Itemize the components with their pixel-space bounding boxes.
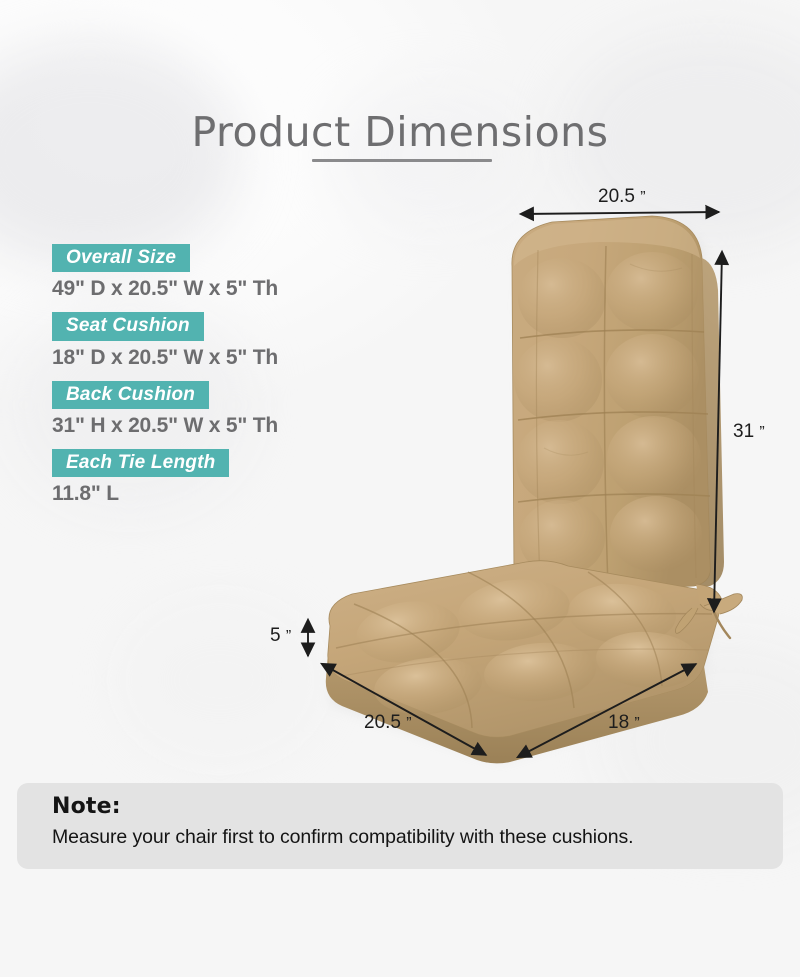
dim-value: 20.5 (598, 186, 635, 207)
title-underline (312, 159, 492, 162)
spec-label-banner: Each Tie Length (52, 449, 229, 477)
dim-unit: ” (759, 424, 764, 441)
dim-value: 5 (270, 625, 281, 646)
dim-label-seat-depth: 18 ” (608, 712, 640, 734)
dim-label-top-width: 20.5 ” (598, 186, 646, 208)
dim-label-thickness: 5 ” (270, 625, 291, 647)
infographic-page: Product Dimensions Overall Size 49" D x … (0, 0, 800, 977)
background-blob (120, 600, 320, 760)
note-title: Note: (52, 793, 783, 821)
note-text: Measure your chair first to confirm comp… (52, 826, 783, 849)
product-illustration (300, 180, 760, 780)
dim-unit: ” (640, 189, 645, 206)
page-title: Product Dimensions (0, 108, 800, 156)
spec-label-banner: Back Cushion (52, 381, 209, 409)
back-cushion-graphic (512, 216, 724, 594)
spec-label-banner: Seat Cushion (52, 312, 204, 340)
dim-unit: ” (406, 715, 411, 732)
note-box: Note: Measure your chair first to confir… (17, 783, 783, 869)
dim-unit: ” (634, 715, 639, 732)
dim-label-seat-width: 20.5 ” (364, 712, 412, 734)
dim-value: 18 (608, 712, 629, 733)
dim-unit: ” (286, 628, 291, 645)
dim-value: 20.5 (364, 712, 401, 733)
dim-value: 31 (733, 421, 754, 442)
spec-label-banner: Overall Size (52, 244, 190, 272)
dim-label-back-height: 31 ” (733, 421, 765, 443)
